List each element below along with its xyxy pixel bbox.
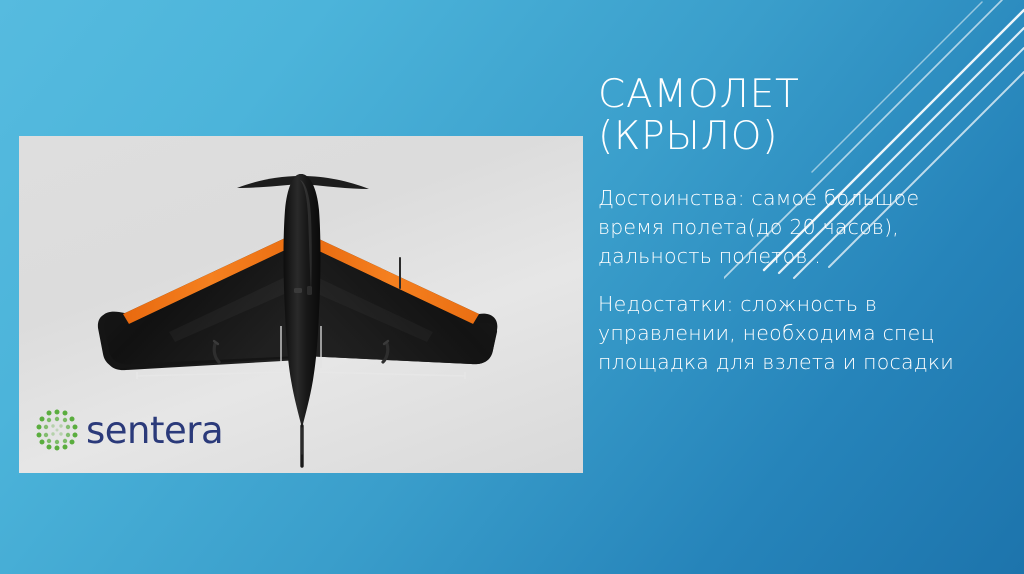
sentera-dot-matrix-icon — [35, 408, 79, 452]
sentera-logo: sentera — [35, 408, 223, 452]
advantages-paragraph: Достоинства: самое большое время полета(… — [598, 184, 958, 271]
presentation-slide: sentera САМОЛЕТ (КРЫЛО) Достоинства: сам… — [0, 0, 1024, 574]
disadvantages-paragraph: Недостатки: сложность в управлении, необ… — [598, 290, 958, 377]
slide-title: САМОЛЕТ (КРЫЛО) — [598, 74, 958, 158]
sentera-wordmark: sentera — [86, 412, 223, 449]
text-column: САМОЛЕТ (КРЫЛО) Достоинства: самое больш… — [598, 74, 958, 377]
drone-photo-panel: sentera — [19, 136, 583, 473]
